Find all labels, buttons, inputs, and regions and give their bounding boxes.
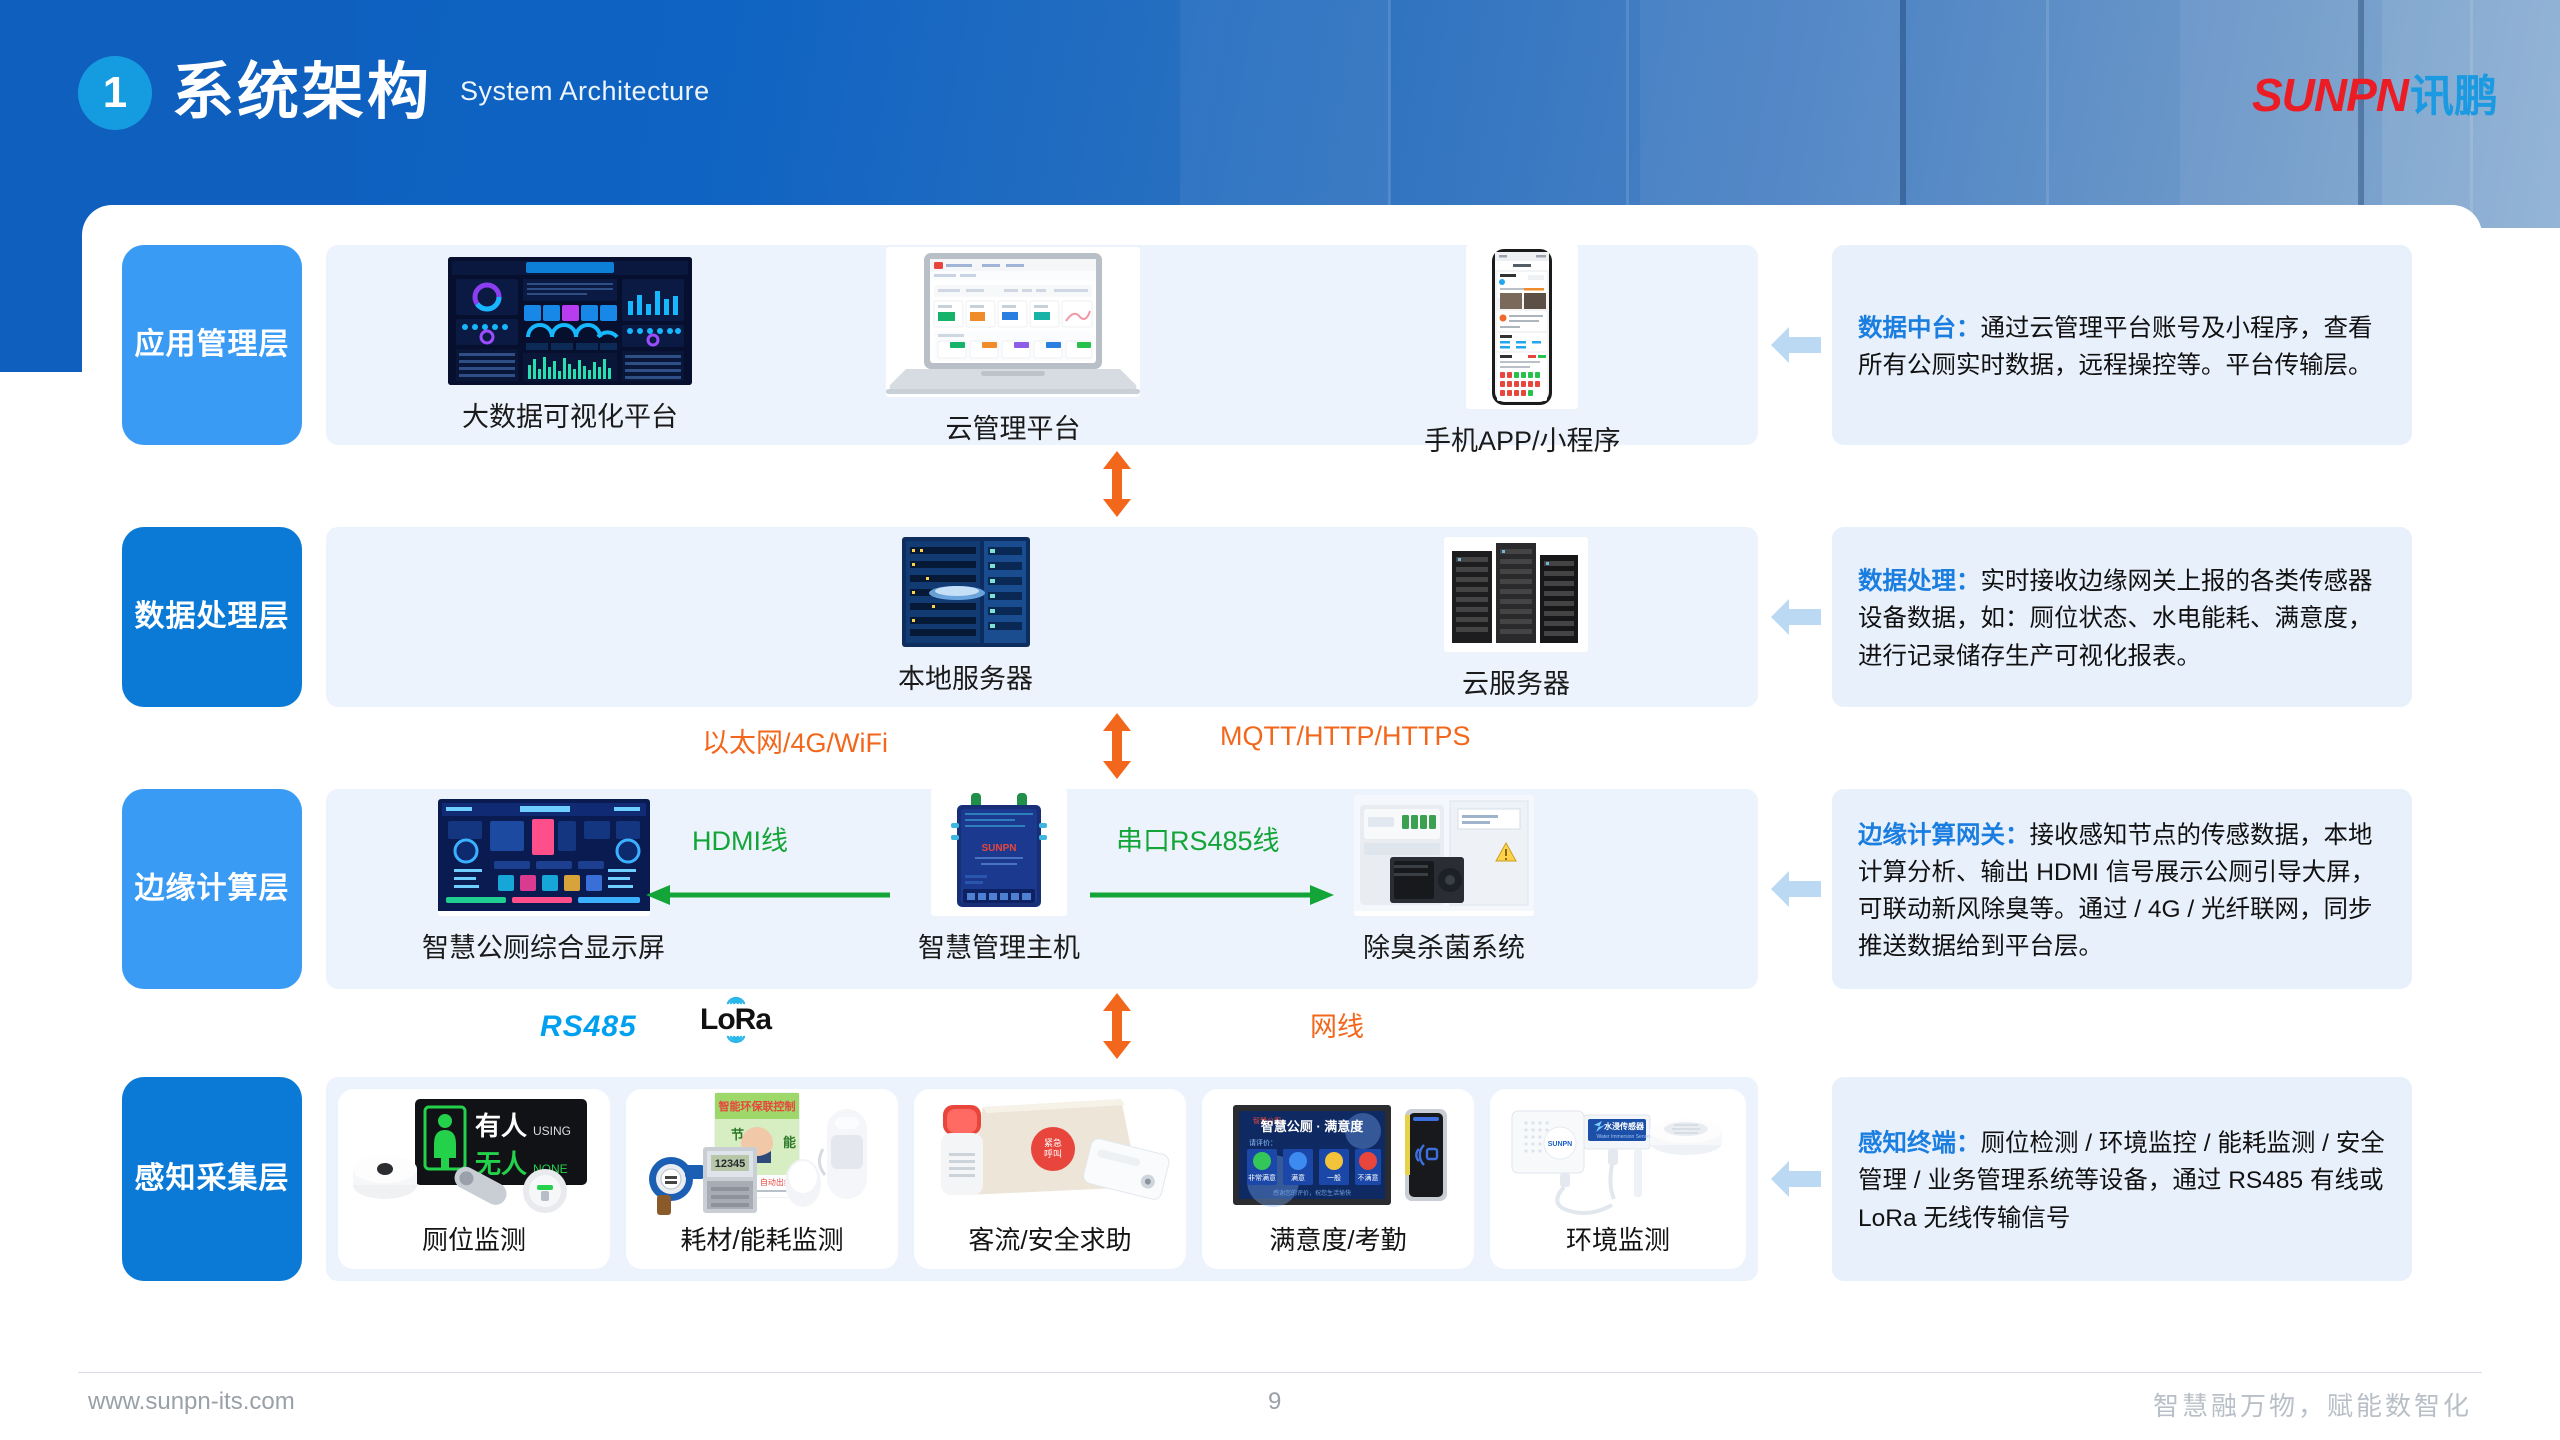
svg-text:12345: 12345 bbox=[715, 1158, 746, 1170]
layer-row-sensing: 感知采集层 有人 USING 无人 NONE bbox=[122, 1077, 2452, 1281]
brand-name-cn: 讯鹏 bbox=[2410, 60, 2498, 124]
layer-body-application: 大数据可视化平台 bbox=[326, 245, 1758, 445]
node-cloud-server[interactable]: 云服务器 bbox=[1444, 537, 1588, 701]
layer-chip-edge: 边缘计算层 bbox=[122, 789, 302, 989]
page-subtitle: System Architecture bbox=[460, 76, 710, 111]
svg-text:感谢您的评价，祝您生活愉快: 感谢您的评价，祝您生活愉快 bbox=[1273, 1189, 1351, 1197]
link-label-rs485-serial: 串口RS485线 bbox=[1116, 819, 1280, 858]
environment-sensor-icon: SUNPN 水浸传感器 Water Immersion Sensor bbox=[1490, 1089, 1746, 1220]
description-title: 边缘计算网关： bbox=[1858, 822, 2030, 849]
protocol-badge-rs485: RS485 bbox=[540, 1010, 637, 1044]
description-title: 数据中台： bbox=[1858, 315, 1981, 342]
architecture-card: 应用管理层 bbox=[82, 205, 2482, 1345]
node-mobile-app[interactable]: 手机APP/小程序 bbox=[1424, 245, 1621, 458]
node-gateway-host[interactable]: SUNPN 智慧管理主机 bbox=[918, 789, 1080, 965]
layer-row-data: 数据处理层 本地服务器 bbox=[122, 527, 2452, 707]
cloud-server-icon bbox=[1444, 537, 1588, 652]
node-label: 云管理平台 bbox=[946, 407, 1081, 446]
lora-wordmark: LoRa bbox=[700, 1005, 771, 1035]
svg-text:一般: 一般 bbox=[1327, 1173, 1341, 1182]
layer-chip-sensing: 感知采集层 bbox=[122, 1077, 302, 1281]
layer-row-edge: 边缘计算层 bbox=[122, 789, 2452, 989]
description-title: 数据处理： bbox=[1858, 568, 1981, 595]
svg-text:紧急: 紧急 bbox=[1044, 1137, 1062, 1148]
arrow-vertical-edge-sense bbox=[1100, 993, 1134, 1064]
deodorizer-icon bbox=[1354, 795, 1534, 916]
device-label: 客流/安全求助 bbox=[968, 1220, 1131, 1257]
device-label: 耗材/能耗监测 bbox=[680, 1220, 843, 1257]
arrow-left-hdmi bbox=[644, 885, 892, 905]
layer-body-edge: 智慧公厕综合显示屏 SUNPN bbox=[326, 789, 1758, 989]
server-rack-icon bbox=[902, 537, 1030, 647]
svg-text:水浸传感器: 水浸传感器 bbox=[1603, 1121, 1645, 1131]
gateway-host-icon: SUNPN bbox=[931, 789, 1067, 916]
brand-name-en: SUNPN bbox=[2252, 68, 2408, 122]
page-title-row: 1 系统架构 System Architecture bbox=[78, 56, 710, 130]
footer-divider bbox=[78, 1372, 2482, 1373]
arrow-to-description-1 bbox=[1758, 245, 1832, 445]
node-local-server[interactable]: 本地服务器 bbox=[898, 537, 1033, 696]
description-sensing-layer: 感知终端：厕位检测 / 环境监控 / 能耗监测 / 安全管理 / 业务管理系统等… bbox=[1832, 1077, 2412, 1281]
svg-text:SUNPN: SUNPN bbox=[1548, 1141, 1573, 1148]
device-card-alarm[interactable]: 紧急 呼叫 bbox=[914, 1089, 1186, 1269]
dashboard-screen-icon bbox=[448, 257, 692, 385]
occupancy-sensor-icon: 有人 USING 无人 NONE bbox=[338, 1089, 610, 1220]
arrow-vertical-data-edge bbox=[1100, 713, 1134, 784]
svg-text:节: 节 bbox=[731, 1127, 744, 1142]
node-label: 除臭杀菌系统 bbox=[1363, 926, 1525, 965]
svg-text:有人: 有人 bbox=[475, 1111, 527, 1141]
device-label: 环境监测 bbox=[1566, 1220, 1670, 1257]
protocol-badge-lora: LoRa bbox=[700, 991, 771, 1049]
meter-sensor-icon: 智能环保联控制 节 能 人脸识别，自动出纸! bbox=[626, 1089, 898, 1220]
lora-wave-bottom-icon bbox=[712, 1035, 760, 1049]
svg-text:SUNPN: SUNPN bbox=[981, 843, 1016, 854]
node-label: 大数据可视化平台 bbox=[462, 395, 678, 434]
device-label: 厕位监测 bbox=[422, 1220, 526, 1257]
svg-text:非常满意: 非常满意 bbox=[1248, 1173, 1276, 1182]
svg-text:能: 能 bbox=[783, 1135, 796, 1150]
feedback-terminal-icon: 智慧公厕 智慧公厕 · 满意度 请评价： 非常满意 满意 一般 bbox=[1202, 1089, 1474, 1220]
brand-logo: SUNPN 讯鹏 bbox=[2252, 60, 2498, 124]
node-deodorizer[interactable]: 除臭杀菌系统 bbox=[1354, 795, 1534, 965]
node-guide-display[interactable]: 智慧公厕综合显示屏 bbox=[422, 799, 665, 965]
link-label-hdmi: HDMI线 bbox=[692, 819, 788, 858]
node-label: 智慧管理主机 bbox=[918, 926, 1080, 965]
arrow-to-description-2 bbox=[1758, 527, 1832, 707]
svg-text:USING: USING bbox=[533, 1124, 571, 1138]
node-label: 手机APP/小程序 bbox=[1424, 419, 1621, 458]
svg-text:呼叫: 呼叫 bbox=[1044, 1149, 1062, 1159]
node-cloud-platform[interactable]: 云管理平台 bbox=[886, 247, 1140, 446]
node-label: 智慧公厕综合显示屏 bbox=[422, 926, 665, 965]
connector-label-lan: 网线 bbox=[1310, 1005, 1364, 1044]
connector-label-ethernet: 以太网/4G/WiFi bbox=[702, 721, 888, 760]
node-bigdata-platform[interactable]: 大数据可视化平台 bbox=[448, 257, 692, 434]
device-label: 满意度/考勤 bbox=[1269, 1220, 1406, 1257]
section-number-badge: 1 bbox=[78, 56, 152, 130]
guide-display-icon bbox=[438, 799, 650, 916]
description-application-layer: 数据中台：通过云管理平台账号及小程序，查看所有公厕实时数据，远程操控等。平台传输… bbox=[1832, 245, 2412, 445]
node-label: 云服务器 bbox=[1462, 662, 1570, 701]
device-card-meter[interactable]: 智能环保联控制 节 能 人脸识别，自动出纸! bbox=[626, 1089, 898, 1269]
smartphone-icon bbox=[1466, 245, 1578, 409]
layer-body-sensing: 有人 USING 无人 NONE bbox=[326, 1077, 1758, 1281]
description-data-layer: 数据处理：实时接收边缘网关上报的各类传感器设备数据，如：厕位状态、水电能耗、满意… bbox=[1832, 527, 2412, 707]
footer-url[interactable]: www.sunpn-its.com bbox=[88, 1388, 295, 1416]
device-card-environment[interactable]: SUNPN 水浸传感器 Water Immersion Sensor bbox=[1490, 1089, 1746, 1269]
svg-text:不满意: 不满意 bbox=[1358, 1173, 1379, 1182]
arrow-vertical-app-data bbox=[1100, 451, 1134, 522]
description-edge-layer: 边缘计算网关：接收感知节点的传感数据，本地计算分析、输出 HDMI 信号展示公厕… bbox=[1832, 789, 2412, 989]
layer-body-data: 本地服务器 bbox=[326, 527, 1758, 707]
svg-text:请评价：: 请评价： bbox=[1249, 1138, 1277, 1147]
svg-text:无人: 无人 bbox=[475, 1149, 527, 1179]
node-label: 本地服务器 bbox=[898, 657, 1033, 696]
svg-text:智能环保联控制: 智能环保联控制 bbox=[719, 1099, 796, 1113]
device-card-occupancy[interactable]: 有人 USING 无人 NONE bbox=[338, 1089, 610, 1269]
svg-text:智慧公厕 · 满意度: 智慧公厕 · 满意度 bbox=[1261, 1119, 1365, 1134]
footer-page-number: 9 bbox=[1268, 1388, 1281, 1416]
description-title: 感知终端： bbox=[1858, 1130, 1981, 1157]
device-card-feedback[interactable]: 智慧公厕 智慧公厕 · 满意度 请评价： 非常满意 满意 一般 bbox=[1202, 1089, 1474, 1269]
arrow-to-description-4 bbox=[1758, 1077, 1832, 1281]
laptop-icon bbox=[886, 247, 1140, 397]
connector-label-mqtt: MQTT/HTTP/HTTPS bbox=[1220, 721, 1470, 752]
layer-chip-data: 数据处理层 bbox=[122, 527, 302, 707]
alarm-help-icon: 紧急 呼叫 bbox=[914, 1089, 1186, 1220]
page-title: 系统架构 bbox=[172, 62, 432, 124]
svg-text:满意: 满意 bbox=[1291, 1173, 1305, 1182]
arrow-right-rs485 bbox=[1088, 885, 1336, 905]
svg-text:Water Immersion Sensor: Water Immersion Sensor bbox=[1596, 1134, 1651, 1140]
arrow-to-description-3 bbox=[1758, 789, 1832, 989]
footer-slogan: 智慧融万物，赋能数智化 bbox=[2153, 1386, 2472, 1423]
layer-chip-application: 应用管理层 bbox=[122, 245, 302, 445]
layer-row-application: 应用管理层 bbox=[122, 245, 2452, 445]
